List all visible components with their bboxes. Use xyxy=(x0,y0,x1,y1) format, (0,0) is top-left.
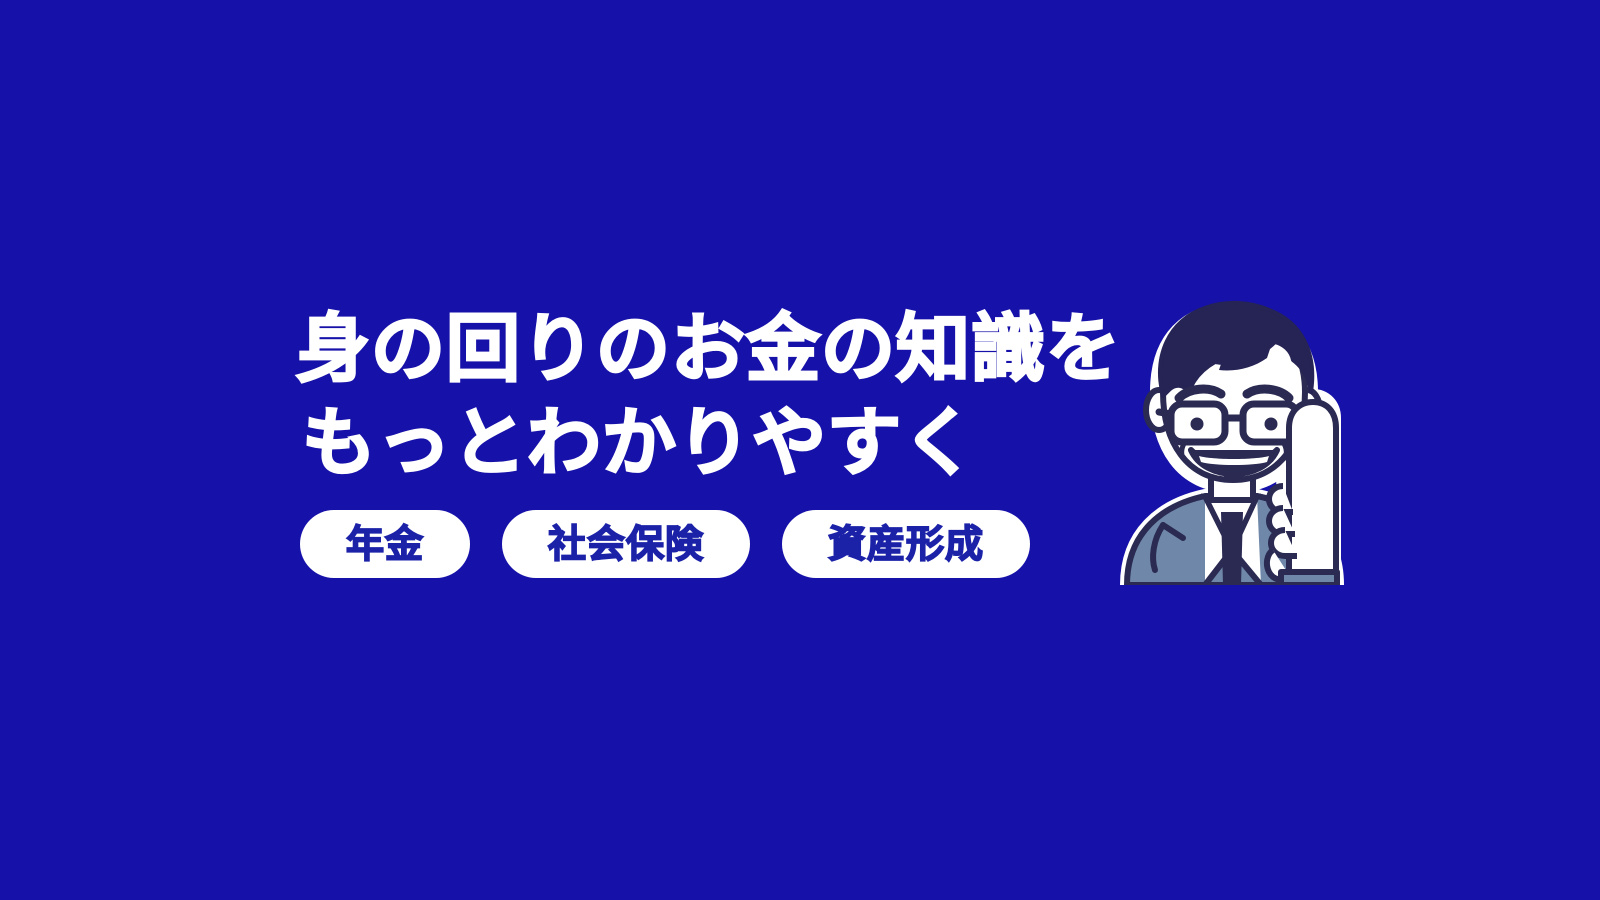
hero-banner: 身の回りのお金の知識を もっとわかりやすく 年金 社会保険 資産形成 xyxy=(0,0,1600,900)
tag-label: 資産形成 xyxy=(828,525,984,563)
tag-pill-asset-building[interactable]: 資産形成 xyxy=(782,510,1030,578)
eye-right xyxy=(1265,418,1278,431)
mascot-character-illustration xyxy=(1105,300,1380,585)
page-title: 身の回りのお金の知識を もっとわかりやすく xyxy=(296,302,1136,490)
tag-label: 社会保険 xyxy=(548,525,704,563)
tag-label: 年金 xyxy=(346,525,424,563)
tag-pill-pension[interactable]: 年金 xyxy=(300,510,470,578)
smiling-man-pointing-up-icon xyxy=(1105,300,1380,585)
headline-line-1: 身の回りのお金の知識を xyxy=(296,302,1136,396)
eye-left xyxy=(1191,418,1204,431)
headline-line-2: もっとわかりやすく xyxy=(296,396,1136,490)
tag-pill-social-insurance[interactable]: 社会保険 xyxy=(502,510,750,578)
tag-list: 年金 社会保険 資産形成 xyxy=(300,510,1030,578)
